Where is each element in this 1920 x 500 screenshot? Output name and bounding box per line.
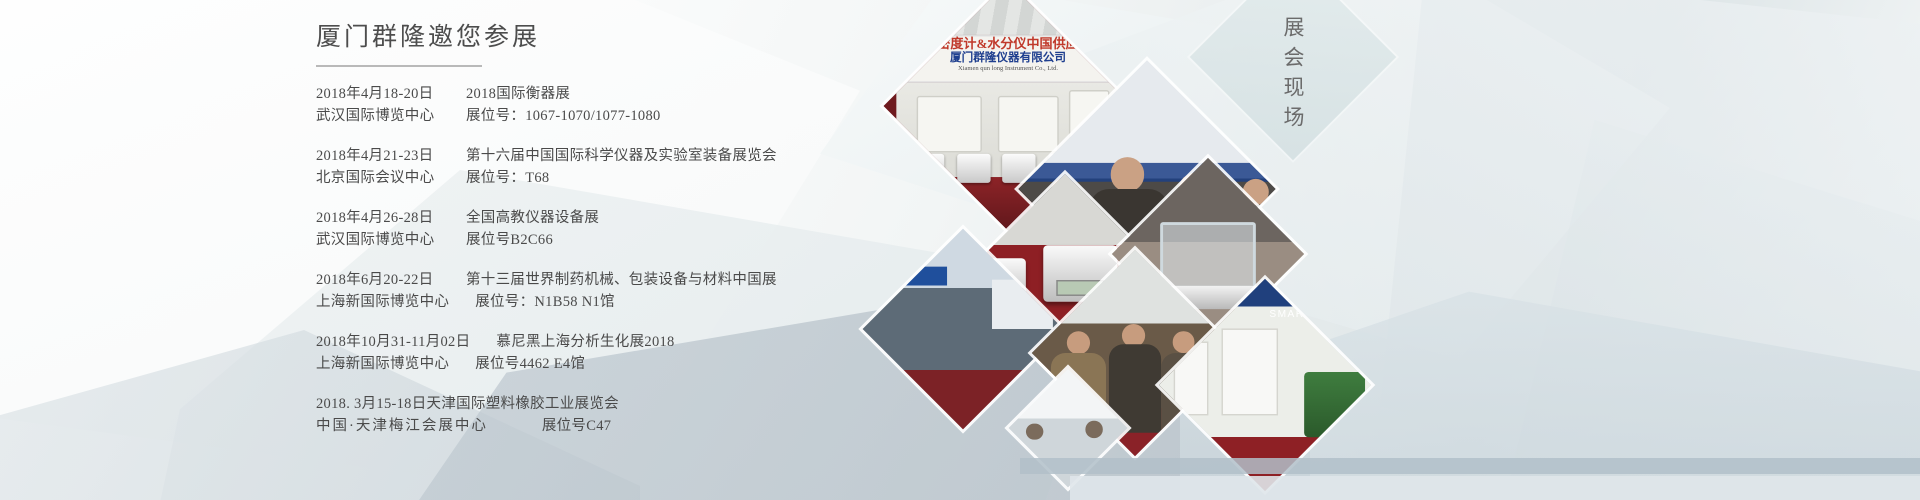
event-booth: 展位号：T68 [466, 170, 549, 186]
event-booth: 展位号：1067-1070/1077-1080 [466, 108, 661, 124]
booth-banner-line2: 厦门群隆仪器有限公司 [884, 50, 1133, 63]
event-name: 第十六届中国国际科学仪器及实验室装备展览会 [466, 148, 777, 164]
bottom-band-upper [1020, 458, 1920, 474]
bg-shard-7 [1500, 120, 1920, 500]
photo-collage: 密度计&水分仪中国供应 厦门群隆仪器有限公司 Xiamen qun long I… [840, 0, 1260, 500]
event-venue: 武汉国际博览中心 [316, 229, 440, 251]
event-venue: 北京国际会议中心 [316, 167, 440, 189]
event-booth: 展位号：N1B58 N1馆 [475, 294, 615, 310]
event-date: 2018年4月21-23日 [316, 145, 440, 167]
event-date: 2018年6月20-22日 [316, 269, 440, 291]
event-venue: 中国·天津梅江会展中心 [316, 415, 488, 437]
event-name: 2018国际衡器展 [466, 86, 570, 102]
event-booth: 展位号B2C66 [466, 232, 553, 248]
title-underline [316, 65, 482, 67]
exhibition-banner: 厦门群隆邀您参展 2018年4月18-20日2018国际衡器展 武汉国际博览中心… [0, 0, 1920, 500]
event-date: 2018. 3月15-18日天津国际塑料橡胶工业展览会 [316, 396, 619, 412]
event-name: 全国高教仪器设备展 [466, 210, 599, 226]
booth-banner-line3: Xiamen qun long Instrument Co., Ltd. [884, 64, 1133, 73]
booth-banner-line1: 密度计&水分仪中国供应 [884, 36, 1133, 51]
event-booth: 展位号4462 E4馆 [475, 356, 585, 372]
event-booth: 展位号C47 [542, 418, 611, 434]
bg-shard-6 [1380, 0, 1920, 500]
event-name: 第十三届世界制药机械、包装设备与材料中国展 [466, 272, 777, 288]
event-date: 2018年4月26-28日 [316, 207, 440, 229]
booth-logo-text: SMART [1269, 309, 1312, 319]
bottom-band-lower [1070, 476, 1920, 500]
vertical-title: 展会现场 [1278, 16, 1308, 136]
event-venue: 上海新国际博览中心 [316, 291, 449, 313]
event-date: 2018年10月31-11月02日 [316, 331, 470, 353]
event-venue: 武汉国际博览中心 [316, 105, 440, 127]
event-venue: 上海新国际博览中心 [316, 353, 449, 375]
event-date: 2018年4月18-20日 [316, 83, 440, 105]
event-name: 慕尼黑上海分析生化展2018 [496, 334, 674, 350]
